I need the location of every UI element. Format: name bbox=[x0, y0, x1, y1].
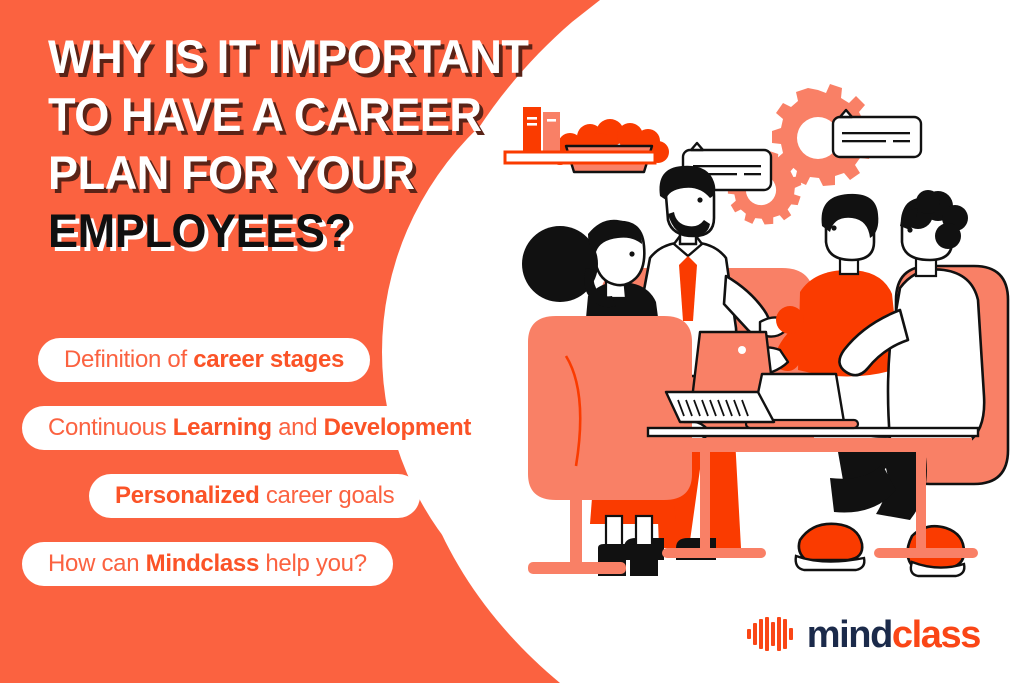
pill-personalized-goals-label: Personalized career goals bbox=[115, 482, 394, 510]
logo-word-class: class bbox=[892, 614, 980, 656]
logo-word-mind: mind bbox=[807, 614, 892, 656]
headline: WHY IS IT IMPORTANT TO HAVE A CAREER PLA… bbox=[48, 28, 608, 260]
pill-learning-development[interactable]: Continuous Learning and Development bbox=[22, 406, 497, 450]
headline-line-2: TO HAVE A CAREER bbox=[48, 86, 586, 144]
pill-mindclass-help[interactable]: How can Mindclass help you? bbox=[22, 542, 393, 586]
pill-career-stages[interactable]: Definition of career stages bbox=[38, 338, 370, 382]
headline-line-4: EMPLOYEES? bbox=[48, 202, 586, 260]
pill-personalized-goals[interactable]: Personalized career goals bbox=[89, 474, 420, 518]
headline-line-1: WHY IS IT IMPORTANT bbox=[48, 28, 586, 86]
pill-career-stages-label: Definition of career stages bbox=[64, 346, 344, 374]
logo-wordmark: mindclass bbox=[807, 616, 980, 654]
soundwave-icon bbox=[747, 616, 793, 652]
poster-canvas: WHY IS IT IMPORTANT TO HAVE A CAREER PLA… bbox=[0, 0, 1024, 683]
headline-line-3: PLAN FOR YOUR bbox=[48, 144, 586, 202]
pill-learning-development-label: Continuous Learning and Development bbox=[48, 414, 471, 442]
mindclass-logo[interactable]: mindclass bbox=[747, 615, 980, 653]
pill-mindclass-help-label: How can Mindclass help you? bbox=[48, 550, 367, 578]
